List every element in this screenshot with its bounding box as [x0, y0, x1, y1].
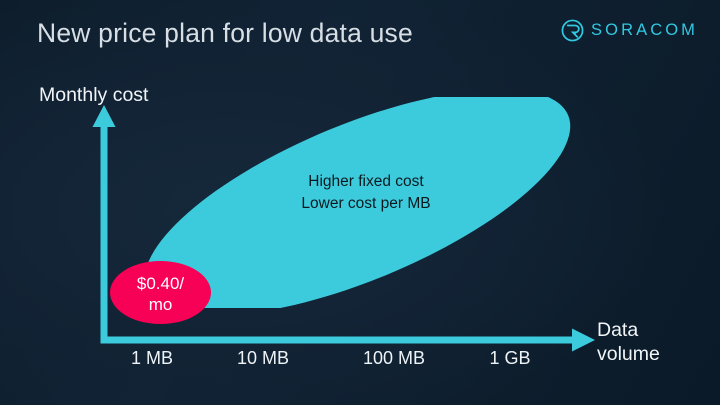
region-low-data-plan: [110, 261, 211, 324]
x-tick-label-3: 1 GB: [489, 348, 530, 369]
x-axis-title-line2: volume: [597, 342, 707, 366]
x-axis-tick-labels: 1 MB 10 MB 100 MB 1 GB: [102, 348, 582, 374]
x-axis-line: [101, 337, 581, 344]
x-tick-label-0: 1 MB: [131, 348, 173, 369]
y-axis-line: [101, 118, 108, 340]
slide-canvas: New price plan for low data use SORACOM: [0, 0, 720, 405]
x-tick-label-1: 10 MB: [237, 348, 289, 369]
x-axis-title: Data volume: [597, 318, 707, 367]
y-axis-arrowhead: [93, 105, 116, 127]
x-axis-title-line1: Data: [597, 318, 707, 342]
y-axis-title: Monthly cost: [39, 84, 148, 107]
price-plan-diagram: Higher fixed cost Lower cost per MB $0.4…: [0, 0, 720, 405]
x-tick-label-2: 100 MB: [363, 348, 425, 369]
